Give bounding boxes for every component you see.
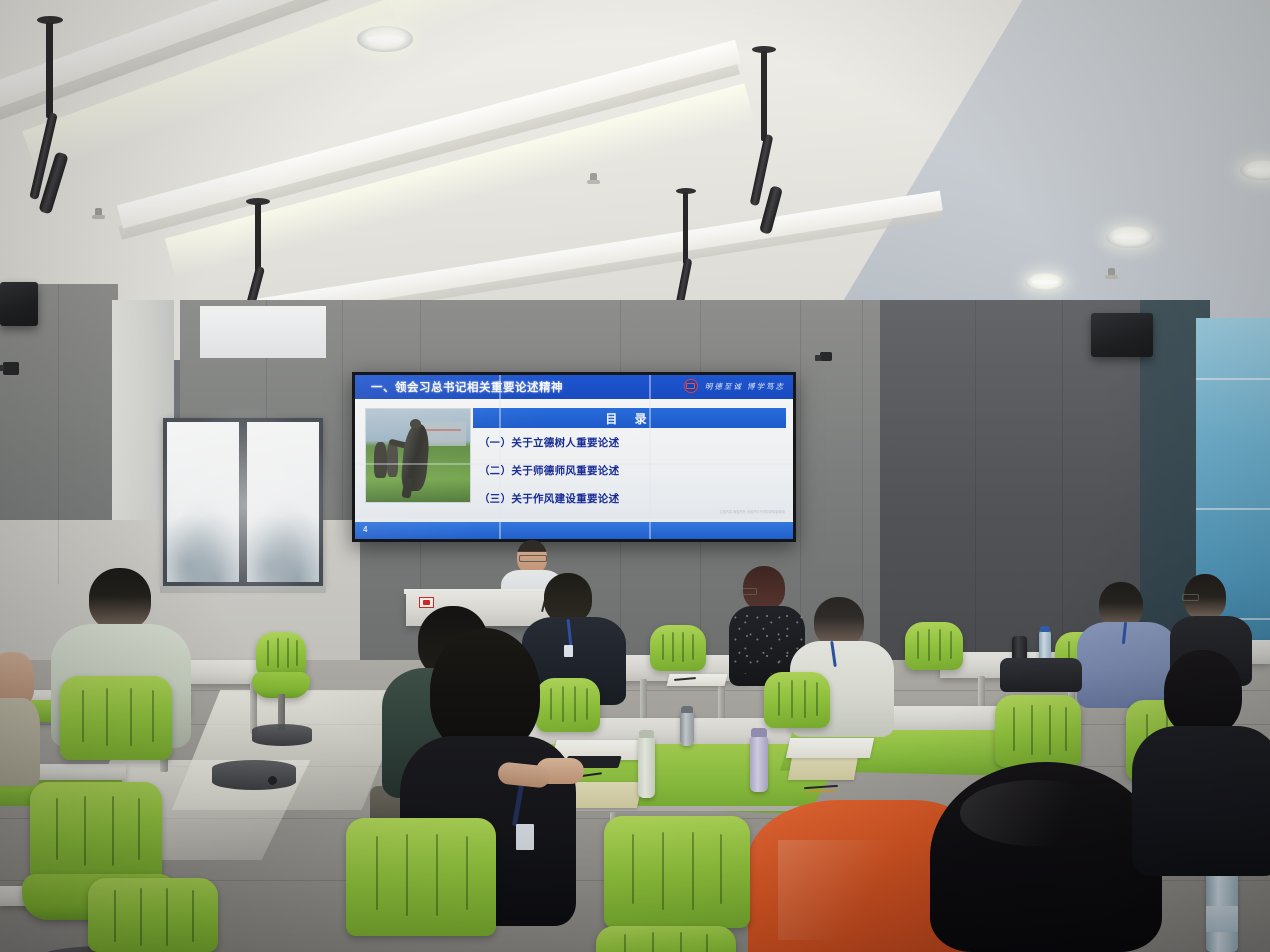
projector-sensor [820, 352, 832, 361]
window-pane-right [247, 422, 319, 582]
window-foliage [167, 499, 239, 582]
bottle-label [1206, 906, 1238, 932]
right-wall-speaker [1091, 313, 1153, 357]
ceiling-downlight [1025, 273, 1065, 291]
attendee-torso [0, 698, 40, 786]
bottle-cap [1040, 626, 1050, 632]
wall-panel-seam [58, 284, 59, 584]
attendee-head [544, 573, 592, 623]
notebook [788, 756, 858, 780]
attendee-torso [1077, 622, 1177, 708]
desk-caster [268, 776, 277, 785]
downlight-strip [1032, 280, 1058, 284]
video-wall-seam [355, 463, 793, 465]
slide-watermark: 文档内容 版权所有 未经许可不得复制转载使用 [719, 510, 785, 515]
window-pane-left [167, 422, 239, 582]
presentation-screen[interactable]: 一、领会习总书记相关重要论述精神 明德至诚 博学笃志 目 录 （一）关于立德树人 [355, 375, 793, 539]
desk-leg [640, 679, 647, 721]
ceiling-downlight [1106, 226, 1154, 248]
window-foliage [247, 499, 319, 582]
slide-body: 目 录 （一）关于立德树人重要论述 （二）关于师德师风重要论述 （三）关于作风建… [355, 399, 793, 519]
training-room-photo: 一、领会习总书记相关重要论述精神 明德至诚 博学笃志 目 录 （一）关于立德树人 [0, 0, 1270, 952]
wall-camera-mount [3, 362, 19, 375]
toc-item-2[interactable]: （二）关于师德师风重要论述 [479, 463, 785, 478]
sprinkler-head [590, 173, 597, 182]
jacket-fold [778, 840, 928, 940]
brand-motto: 明德至诚 博学笃志 [705, 381, 785, 392]
toc-list: （一）关于立德树人重要论述 （二）关于师德师风重要论述 （三）关于作风建设重要论… [479, 435, 785, 519]
id-badge [516, 824, 534, 850]
attendee-torso [1132, 726, 1270, 876]
toc-heading-bar: 目 录 [473, 408, 786, 428]
slide-page-number: 4 [363, 525, 367, 534]
downlight-strip [1248, 168, 1270, 172]
downlight-strip [1115, 234, 1146, 239]
attendee-glasses [1182, 594, 1199, 601]
bottle-cap [751, 728, 767, 737]
toc-heading-text: 目 录 [605, 410, 653, 427]
slide-title: 一、领会习总书记相关重要论述精神 [371, 379, 563, 395]
video-wall-seam [499, 375, 501, 539]
downlight-strip [367, 36, 403, 42]
bronze-runner-statue-photo [365, 408, 471, 503]
toc-item-3[interactable]: （三）关于作风建设重要论述 [479, 491, 785, 506]
attendee-head [1164, 650, 1242, 736]
presenter-glasses [519, 555, 547, 562]
university-seal-icon [684, 379, 698, 393]
toc-item-1[interactable]: （一）关于立德树人重要论述 [479, 435, 785, 450]
sprinkler-head [95, 208, 102, 217]
attendee-head [814, 597, 864, 647]
podium-sign [419, 597, 434, 608]
slide-brand-block: 明德至诚 博学笃志 [684, 379, 785, 393]
upper-window-band [200, 306, 326, 358]
white-thermos [638, 736, 655, 798]
desk-caster-base [212, 760, 296, 790]
video-wall-seam [649, 375, 651, 539]
id-badge [564, 645, 573, 657]
slide-footer-bar: 4 [355, 522, 793, 539]
black-backpack [1000, 658, 1082, 692]
hair-sheen [960, 780, 1110, 846]
thermos-cap [681, 706, 693, 713]
sprinkler-head [1108, 268, 1115, 277]
window-sill [160, 586, 326, 593]
steel-thermos [680, 710, 694, 746]
slide-header-bar: 一、领会习总书记相关重要论述精神 明德至诚 博学笃志 [355, 375, 793, 399]
statue-figure-background [374, 442, 386, 477]
ceiling-downlight [357, 26, 413, 52]
attendee-head [89, 568, 151, 630]
thermos-cap [639, 730, 654, 738]
left-wall-speaker [0, 282, 38, 326]
window-frame [163, 418, 323, 586]
attendee-glasses [741, 588, 757, 595]
purple-bottle [750, 736, 768, 792]
handout-paper [786, 738, 874, 758]
